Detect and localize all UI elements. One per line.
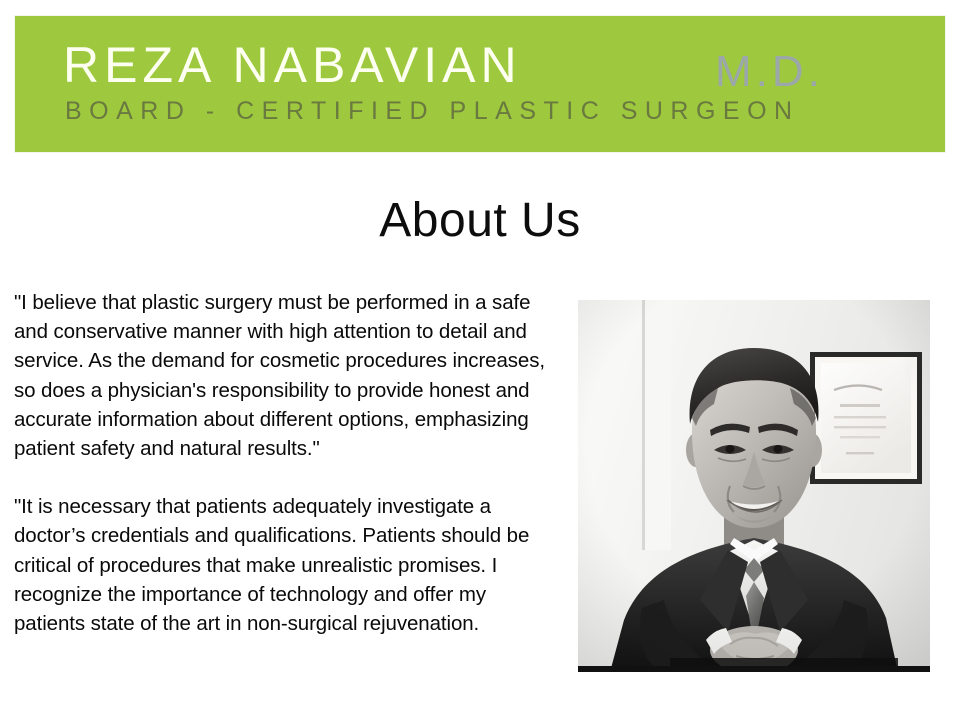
practice-name-text: REZA NABAVIAN	[63, 38, 522, 92]
practice-credential-text: M.D.	[715, 48, 824, 96]
quote-paragraph-philosophy: "I believe that plastic surgery must be …	[14, 288, 554, 463]
doctor-portrait-photo	[578, 300, 930, 672]
about-us-body: "I believe that plastic surgery must be …	[14, 288, 554, 638]
practice-tagline-text: BOARD - CERTIFIED PLASTIC SURGEON	[65, 96, 800, 126]
practice-banner: REZA NABAVIAN M.D. BOARD - CERTIFIED PLA…	[15, 16, 945, 152]
doctor-portrait-illustration	[578, 300, 930, 672]
page-title: About Us	[0, 192, 960, 250]
quote-paragraph-credentials: "It is necessary that patients adequatel…	[14, 492, 554, 638]
